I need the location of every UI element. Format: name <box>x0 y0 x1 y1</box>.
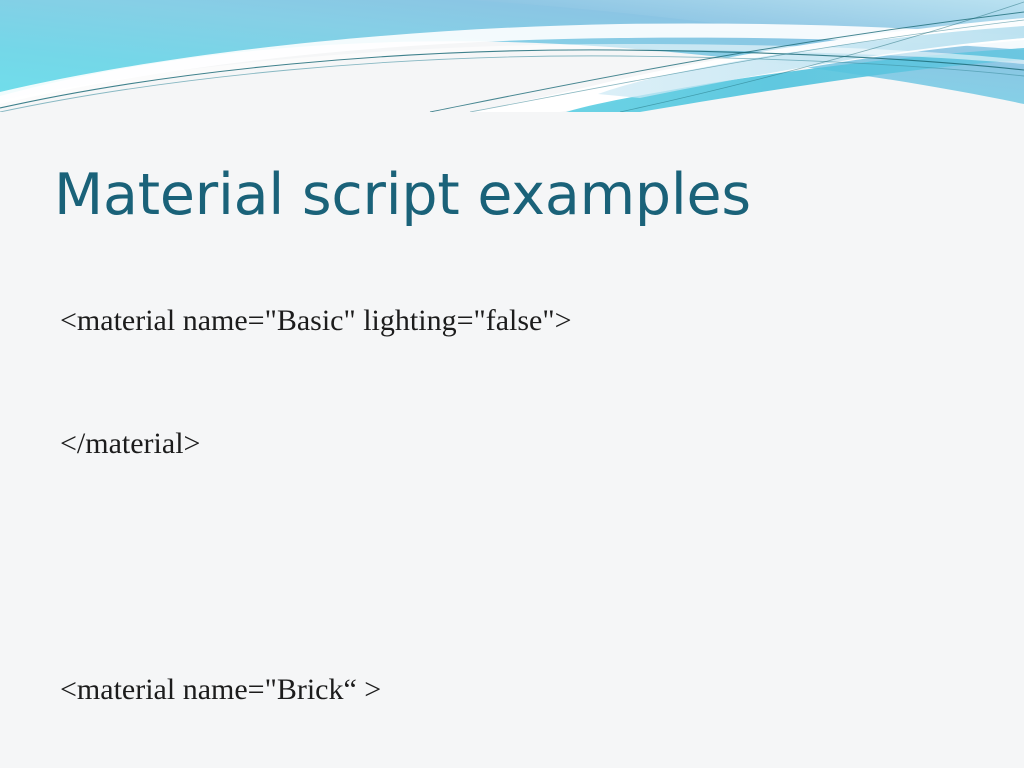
wave-banner-graphic <box>0 0 1024 112</box>
code-line-blank <box>60 546 1010 587</box>
code-listing: <material name="Basic" lighting="false">… <box>60 218 1010 768</box>
presentation-slide: Material script examples <material name=… <box>0 0 1024 768</box>
code-line: </material> <box>60 423 1010 464</box>
code-line: <material name="Brick“ > <box>60 669 1010 710</box>
code-line: <material name="Basic" lighting="false"> <box>60 300 1010 341</box>
